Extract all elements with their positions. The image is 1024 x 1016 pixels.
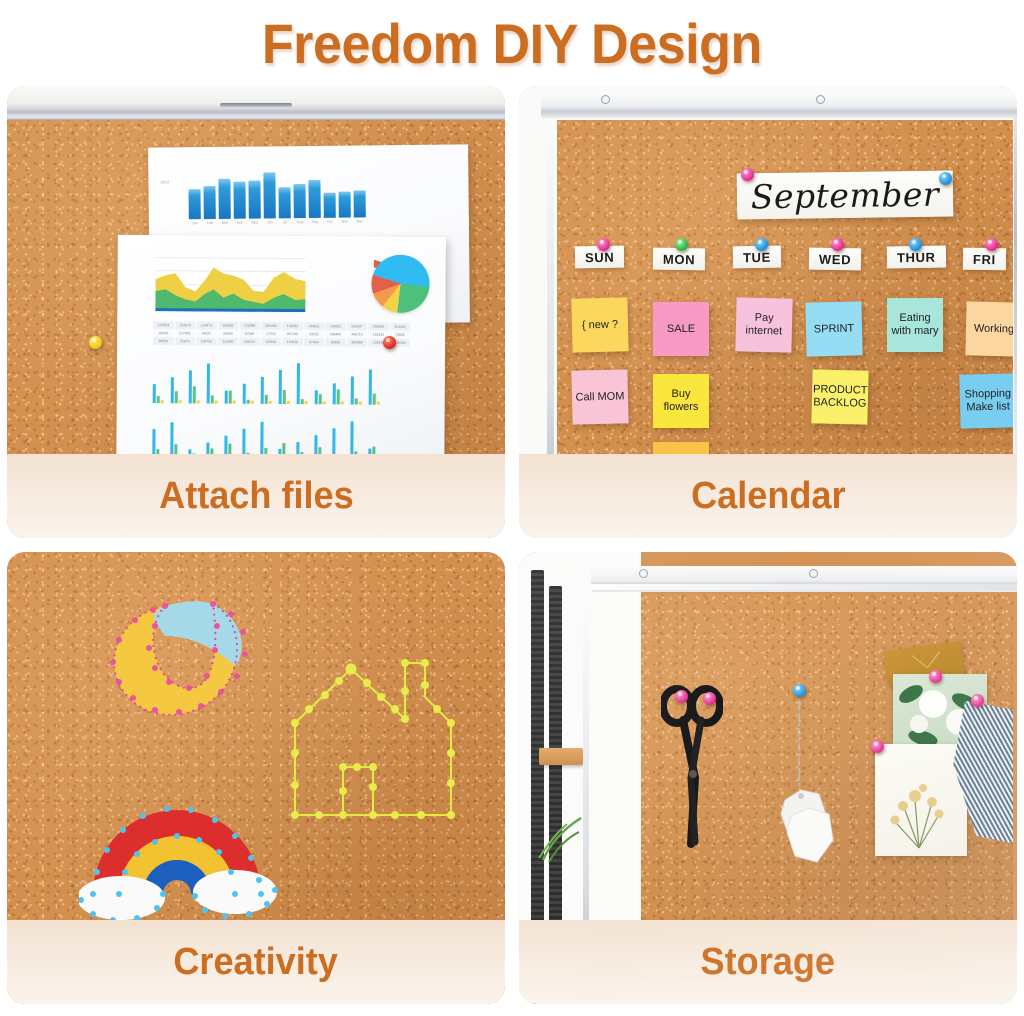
bar	[354, 190, 366, 217]
bar-group	[297, 363, 308, 404]
bar	[153, 384, 156, 403]
bar	[157, 396, 160, 403]
bar	[337, 389, 340, 404]
table-cell: 153675	[175, 321, 197, 329]
weekday-label: TUE	[743, 249, 771, 264]
bar	[341, 401, 344, 404]
pushpin-fri[interactable]	[985, 238, 998, 251]
bar	[203, 186, 215, 219]
month-label: Apr	[234, 221, 246, 225]
bar-group	[261, 377, 272, 404]
bar-group	[315, 390, 326, 404]
document-analytics-report: 1078531536751294731555821223985834661405…	[116, 235, 446, 485]
bar	[193, 386, 196, 403]
sticky-note-text: Shopping Make list	[963, 387, 1013, 414]
table-cell: 446719	[347, 330, 369, 338]
table-cell: 97464	[304, 338, 326, 346]
sticky-note-text: Pay internet	[739, 311, 790, 338]
table-cell: 59430	[218, 330, 240, 338]
table-cell: 583466	[261, 322, 283, 330]
month-label: Mar	[219, 221, 231, 225]
table-cell: 434490	[325, 330, 347, 338]
caption-text: Attach files	[159, 475, 354, 518]
board-hanger-rail	[541, 92, 1017, 118]
sticky-note-text: Buy flowers	[656, 388, 706, 414]
frame-clip	[220, 103, 292, 107]
pie-chart	[371, 255, 429, 313]
month-label: Nov	[339, 220, 351, 224]
data-table: 1078531536751294731555821223985834661405…	[153, 321, 411, 347]
month-label: Jan	[189, 221, 201, 225]
pushpin-yellow[interactable]	[89, 336, 102, 349]
month-label: Jul	[279, 220, 291, 224]
month-label: Sep	[309, 220, 321, 224]
sticky-note-text: SPRINT	[814, 322, 855, 336]
bar	[297, 363, 300, 404]
bar	[373, 394, 376, 405]
month-label: Oct	[324, 220, 336, 224]
feature-panel-grid: 2019 2018 JanFebMarAprMayJunJulAugSepOct…	[0, 86, 1024, 1004]
page-title: Freedom DIY Design	[262, 11, 762, 76]
table-cell: 140582	[282, 322, 304, 330]
bar	[377, 402, 380, 405]
sticky-note-text: SALE	[667, 323, 695, 336]
sticky-note-text: PRODUCT BACKLOG	[813, 383, 868, 410]
panel-creativity: Creativity	[7, 552, 505, 1004]
pushpin-striped-cloth[interactable]	[971, 694, 984, 707]
bar-chart-2019	[188, 171, 365, 219]
sticky-note-text: { new ?	[582, 318, 618, 332]
bar-group	[333, 383, 344, 404]
table-row: 9435051876100745116930104113133062120910…	[153, 337, 411, 347]
area-chart	[155, 257, 305, 312]
bar	[171, 377, 174, 403]
table-cell: 100745	[196, 337, 218, 345]
bar	[247, 400, 250, 404]
bar	[315, 390, 318, 404]
string-art-crescent-moon	[95, 592, 285, 742]
sticky-note[interactable]: SALE	[653, 302, 709, 356]
bar	[351, 376, 354, 404]
bar	[248, 181, 260, 219]
table-cell: 203607	[347, 322, 369, 330]
bar-group	[369, 370, 380, 405]
panel-calendar: September SUNMONTUEWEDTHURFRISA { new ?S…	[519, 86, 1017, 538]
bar	[251, 401, 254, 404]
sticky-note[interactable]: SPRINT	[805, 301, 862, 356]
panel-caption-storage: Storage	[519, 920, 1017, 1004]
bar-group	[207, 363, 218, 403]
sticky-note[interactable]: PRODUCT BACKLOG	[811, 369, 868, 424]
table-cell: 44321	[196, 329, 218, 337]
bar	[339, 192, 351, 218]
table-cell: 517041	[175, 329, 197, 337]
hanger-hook-right	[816, 95, 825, 104]
bar	[225, 391, 228, 404]
pushpin-month-left[interactable]	[741, 168, 754, 181]
bar	[189, 370, 192, 403]
area-chart-svg	[155, 257, 305, 312]
cork-surface: September SUNMONTUEWEDTHURFRISA { new ?S…	[557, 120, 1013, 478]
bar	[233, 401, 236, 404]
bar	[333, 383, 336, 404]
bar	[207, 363, 210, 403]
bar	[233, 182, 245, 219]
table-cell: 120910	[282, 338, 304, 346]
table-cell: 133062	[261, 338, 283, 346]
pushpin-tue[interactable]	[755, 238, 768, 251]
panel-storage: Storage	[519, 552, 1017, 1004]
bar-group	[243, 384, 254, 404]
bar-chart-detail-upper	[153, 357, 386, 405]
hanger-hook-right	[809, 569, 818, 578]
weekday-tag-fri[interactable]: FRI	[963, 248, 1006, 271]
pushpin-mon[interactable]	[675, 238, 688, 251]
scissors[interactable]	[661, 682, 723, 852]
table-cell: 155582	[218, 322, 240, 330]
sticky-note[interactable]: { new ?	[571, 297, 628, 352]
bar-group	[189, 370, 200, 403]
pushpin-floral-card[interactable]	[929, 670, 942, 683]
pushpin-month-right[interactable]	[939, 172, 952, 185]
month-label: May	[249, 221, 261, 225]
panel-caption-attach-files: Attach files	[7, 454, 505, 538]
product-feature-page: Freedom DIY Design 2019 2018 JanFebMarAp…	[0, 0, 1024, 1016]
bar	[261, 377, 264, 404]
sticky-note[interactable]: Working	[965, 301, 1013, 356]
bar	[301, 399, 304, 404]
caption-text: Calendar	[691, 475, 845, 518]
month-label: Aug	[294, 220, 306, 224]
weekday-tag-wed[interactable]: WED	[809, 248, 861, 271]
chart-year-label-2019: 2019	[160, 179, 169, 184]
bar	[355, 399, 358, 405]
bar	[218, 179, 230, 219]
caption-text: Storage	[701, 941, 835, 984]
bar-group	[279, 370, 290, 404]
pushpin-sun[interactable]	[597, 238, 610, 251]
table-cell: 33250	[325, 338, 347, 346]
bar	[359, 402, 362, 405]
page-header: Freedom DIY Design	[0, 0, 1024, 86]
board-hanger-rail	[591, 566, 1017, 592]
month-banner[interactable]: September	[737, 170, 954, 219]
bar	[215, 401, 218, 404]
weekday-label: MON	[663, 251, 695, 266]
bar	[179, 400, 182, 403]
weekday-label: WED	[819, 251, 851, 266]
cork-surface	[593, 594, 1013, 946]
string-art-rainbow	[79, 772, 279, 922]
table-cell: 51876	[175, 337, 197, 345]
table-cell: 107853	[153, 321, 175, 329]
bar	[269, 401, 272, 404]
month-label: September	[751, 174, 940, 216]
bar	[323, 401, 326, 404]
table-cell: 67048	[239, 330, 261, 338]
weekday-label: THUR	[897, 249, 936, 265]
bar	[305, 401, 308, 404]
table-cell: 116930	[218, 338, 240, 346]
sticky-note[interactable]: Pay internet	[735, 297, 792, 352]
bar	[319, 394, 322, 404]
bar-chart-2019-months: JanFebMarAprMayJunJulAugSepOctNovDec	[189, 219, 366, 225]
bar	[287, 401, 290, 404]
sticky-note-text: Call MOM	[575, 390, 624, 404]
bar	[279, 370, 282, 404]
botanical-print	[875, 744, 967, 856]
table-cell: 129473	[196, 321, 218, 329]
bar	[369, 370, 372, 405]
table-cell: 94350	[153, 337, 175, 345]
bar	[197, 400, 200, 403]
table-cell: 294383	[368, 323, 390, 331]
string-art-house	[285, 657, 475, 847]
table-cell: 40143	[153, 329, 175, 337]
sticky-note-text: Eating with mary	[890, 312, 940, 338]
hanging-tags[interactable]	[775, 690, 841, 870]
bar	[161, 400, 164, 403]
bar	[263, 172, 275, 218]
bar	[229, 391, 232, 404]
pushpin-red[interactable]	[383, 336, 396, 349]
sticky-note[interactable]: Eating with mary	[887, 298, 943, 352]
pushpin-scissors-left[interactable]	[675, 690, 688, 703]
bar	[265, 395, 268, 404]
bar	[175, 391, 178, 403]
bar-group	[351, 376, 362, 404]
weekday-label: FRI	[973, 251, 996, 266]
sticky-note[interactable]: Call MOM	[571, 369, 628, 424]
month-label: Feb	[204, 221, 216, 225]
wooden-shelf-bracket	[539, 748, 583, 765]
sticky-note[interactable]: Buy flowers	[653, 374, 709, 428]
bar	[308, 180, 320, 218]
month-label: Dec	[354, 219, 366, 223]
table-cell: 104113	[239, 338, 261, 346]
hanger-hook-left	[601, 95, 610, 104]
sticky-note[interactable]: Shopping Make list	[959, 373, 1013, 428]
pushpin-tags[interactable]	[793, 684, 806, 697]
table-cell: 17242	[261, 330, 283, 338]
pushpin-botanical-print[interactable]	[871, 740, 884, 753]
table-cell: 341886	[347, 338, 369, 346]
hanger-hook-left	[639, 569, 648, 578]
bar-group	[225, 391, 236, 404]
weekday-label: SUN	[585, 249, 615, 265]
bar	[211, 396, 214, 404]
month-label: Jun	[264, 220, 276, 224]
table-cell: 304093	[390, 323, 412, 331]
table-cell: 143911	[325, 322, 347, 330]
table-cell: 149011	[304, 322, 326, 330]
pushpin-scissors-right[interactable]	[703, 692, 716, 705]
panel-attach-files: 2019 2018 JanFebMarAprMayJunJulAugSepOct…	[7, 86, 505, 538]
pushpin-thur[interactable]	[909, 238, 922, 251]
bar	[278, 187, 290, 218]
plant-leaves	[537, 802, 583, 862]
weekday-tag-mon[interactable]: MON	[653, 248, 705, 271]
bar-group	[171, 377, 182, 403]
table-cell: 407146	[282, 330, 304, 338]
table-cell: 43152	[304, 330, 326, 338]
panel-caption-creativity: Creativity	[7, 920, 505, 1004]
caption-text: Creativity	[174, 941, 339, 984]
pushpin-wed[interactable]	[831, 238, 844, 251]
panel-caption-calendar: Calendar	[519, 454, 1017, 538]
sticky-note-text: Working	[974, 322, 1013, 336]
bar	[189, 189, 201, 219]
bar	[324, 193, 336, 218]
aluminum-frame-top	[7, 86, 505, 120]
table-cell: 122398	[239, 322, 261, 330]
bar	[243, 384, 246, 404]
bar	[293, 184, 305, 218]
bar	[283, 390, 286, 404]
bar-group	[153, 384, 164, 403]
